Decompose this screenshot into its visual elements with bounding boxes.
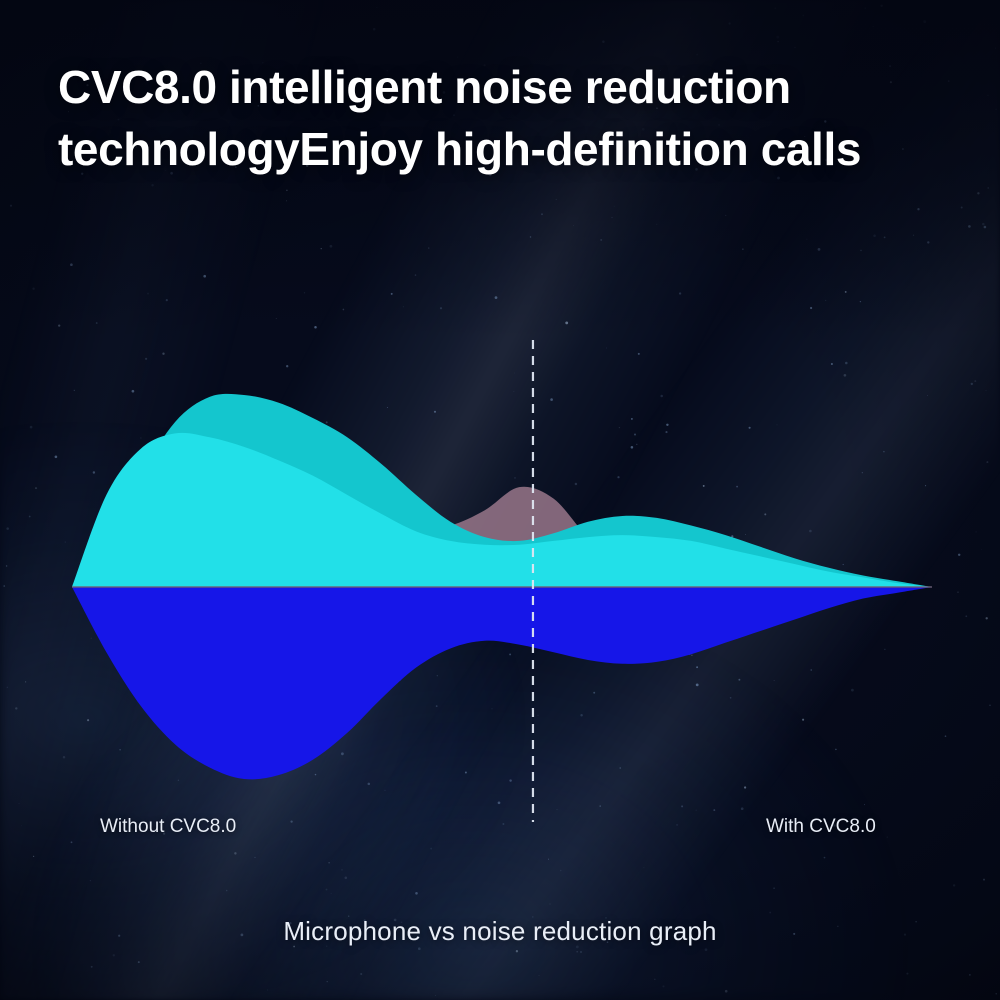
infographic-canvas: CVC8.0 intelligent noise reduction techn… bbox=[0, 0, 1000, 1000]
right-region-label: With CVC8.0 bbox=[766, 816, 876, 838]
waveform-chart bbox=[0, 0, 1000, 1000]
chart-caption: Microphone vs noise reduction graph bbox=[0, 916, 1000, 947]
wave-area-output bbox=[72, 587, 932, 779]
left-region-label: Without CVC8.0 bbox=[100, 816, 236, 838]
